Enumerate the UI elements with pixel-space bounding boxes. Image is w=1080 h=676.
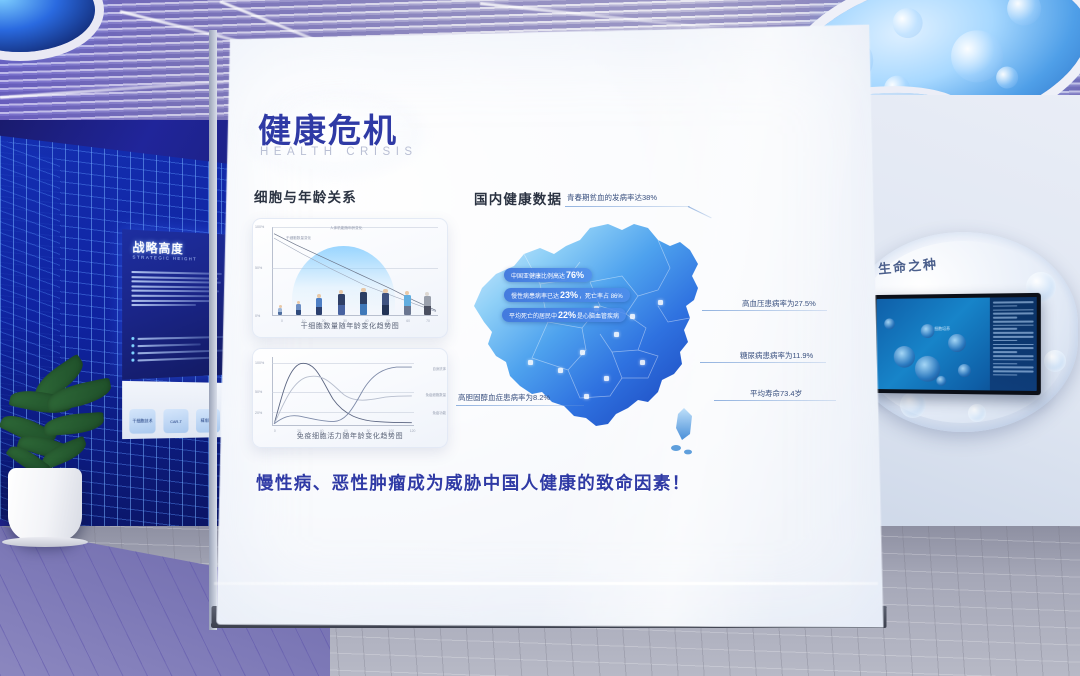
y-tick-label: 100% [255, 361, 264, 365]
pill-value: 23% [560, 290, 578, 300]
annotation-diabetes: 糖尿病患病率为11.9% [740, 350, 813, 361]
figure-toddler [296, 301, 301, 315]
chart-card-immune[interactable]: 100% 50% 20% 0 20 40 60 80 100 120 自身抗体 … [252, 348, 448, 448]
map-marker-icon [658, 300, 663, 305]
annotation-hypertension: 高血压患病率为27.5% [742, 298, 816, 309]
pill-text-after: ，死亡率占 86% [579, 291, 623, 300]
china-map-svg [462, 210, 720, 460]
legend-stemcell-line: 干细胞数量变化 [286, 236, 311, 241]
map-marker-icon [584, 394, 589, 399]
board-left-edge [209, 30, 217, 630]
legend-body-function: 人体机能随年龄变化 [330, 226, 362, 231]
figure-adult [382, 289, 389, 315]
board-footer-headline: 慢性病、恶性肿瘤成为威胁中国人健康的致命因素！ [256, 470, 691, 495]
legend-immune-1: 免疫细胞数量 [426, 392, 446, 397]
legend-immune-0: 自身抗体 [432, 366, 446, 371]
legend-immune-2: 免疫功能 [432, 410, 446, 415]
cell-icon [948, 334, 966, 352]
stat-pill-chronic[interactable]: 慢性病患病率已达23%，死亡率占 86% [504, 288, 630, 302]
section-title-map: 国内健康数据 [474, 188, 562, 208]
room: 战略高度 STRATEGIC HEIGHT 干细胞技术 CAR-T [0, 0, 1080, 676]
board-light-strip [214, 582, 878, 585]
cell-icon [936, 376, 946, 386]
exhibition-hall-scene: 战略高度 STRATEGIC HEIGHT 干细胞技术 CAR-T [0, 0, 1080, 676]
pill-value: 76% [566, 270, 584, 280]
figure-young-adult [360, 288, 367, 315]
map-marker-icon [528, 360, 533, 365]
map-marker-icon [630, 314, 635, 319]
chart-caption-immune: 免疫细胞活力随年龄变化趋势图 [252, 431, 448, 441]
map-marker-icon [580, 350, 585, 355]
chart-card-stemcell[interactable]: 100% 50% 0% 干细胞数量变化 人体机能随年龄变化 [252, 218, 448, 338]
cell-icon [958, 364, 971, 377]
y-tick-label: 100% [255, 225, 264, 229]
pill-text-before: 中国亚健康比例高达 [511, 271, 565, 280]
bullet-dot-icon [131, 344, 134, 347]
map-marker-icon [604, 376, 609, 381]
stemcell-plot-area: 100% 50% 0% 干细胞数量变化 人体机能随年龄变化 [272, 227, 438, 316]
exhibit-screen-sidebar [990, 297, 1037, 391]
pill-text-before: 平均死亡的居民中 [509, 311, 557, 320]
figure-infant [278, 305, 282, 315]
figure-teen [338, 290, 345, 315]
plant-pot [8, 468, 82, 542]
immune-plot-area: 100% 50% 20% 0 20 40 60 80 100 120 [272, 357, 414, 426]
panel-strategic-subtitle: STRATEGIC HEIGHT [132, 254, 197, 261]
plant-tray [2, 537, 88, 547]
map-marker-icon [614, 332, 619, 337]
cell-icon [921, 324, 935, 338]
map-marker-icon [640, 360, 645, 365]
bullet-dot-icon [131, 351, 134, 354]
y-tick-label: 20% [255, 411, 262, 415]
exhibit-seed-of-life[interactable]: 生命之种 细胞培养 [848, 232, 1078, 432]
section-title-cells: 细胞与年龄关系 [254, 186, 357, 206]
stat-pill-subhealth[interactable]: 中国亚健康比例高达76% [504, 268, 592, 282]
chip-cart[interactable]: CAR-T [163, 409, 188, 433]
pill-value: 22% [558, 310, 576, 320]
board-subtitle: HEALTH CRISIS [260, 146, 418, 158]
exhibit-display-screen[interactable]: 细胞培养 [873, 293, 1041, 395]
figure-elderly [424, 292, 431, 315]
y-tick-label: 50% [255, 266, 262, 270]
cell-icon [894, 346, 915, 368]
bubble-decor-icon [968, 404, 986, 422]
annotation-cholesterol: 高胆固醇血症患病率为8.2% [458, 392, 550, 403]
bullet-dot-icon [131, 337, 134, 340]
annotation-anemia: 青春期贫血的发病率达38% [567, 192, 657, 203]
chip-stemcell[interactable]: 干细胞技术 [129, 409, 155, 434]
immune-curves [272, 357, 414, 426]
bullet-dot-icon [131, 359, 134, 362]
map-marker-icon [558, 368, 563, 373]
figure-child [316, 294, 322, 315]
pill-text-before: 慢性病患病率已达 [511, 291, 559, 300]
y-tick-label: 0% [255, 314, 260, 318]
bubble-decor-icon [1044, 350, 1066, 372]
chart-caption-stemcell: 干细胞数量随年龄变化趋势图 [252, 321, 448, 331]
figure-middle-age [404, 291, 411, 315]
annotation-lifespan: 平均寿命73.4岁 [750, 388, 802, 399]
stat-pill-cardio[interactable]: 平均死亡的居民中22%是心脑血管疾病 [502, 308, 626, 322]
bubble-decor-icon [900, 392, 926, 418]
board-title: 健康危机 [258, 104, 398, 152]
exhibit-screen-caption: 细胞培养 [934, 326, 950, 332]
cell-icon [884, 318, 894, 329]
y-tick-label: 50% [255, 390, 262, 394]
china-map[interactable] [462, 210, 720, 460]
pill-text-after: 是心脑血管疾病 [577, 311, 619, 320]
